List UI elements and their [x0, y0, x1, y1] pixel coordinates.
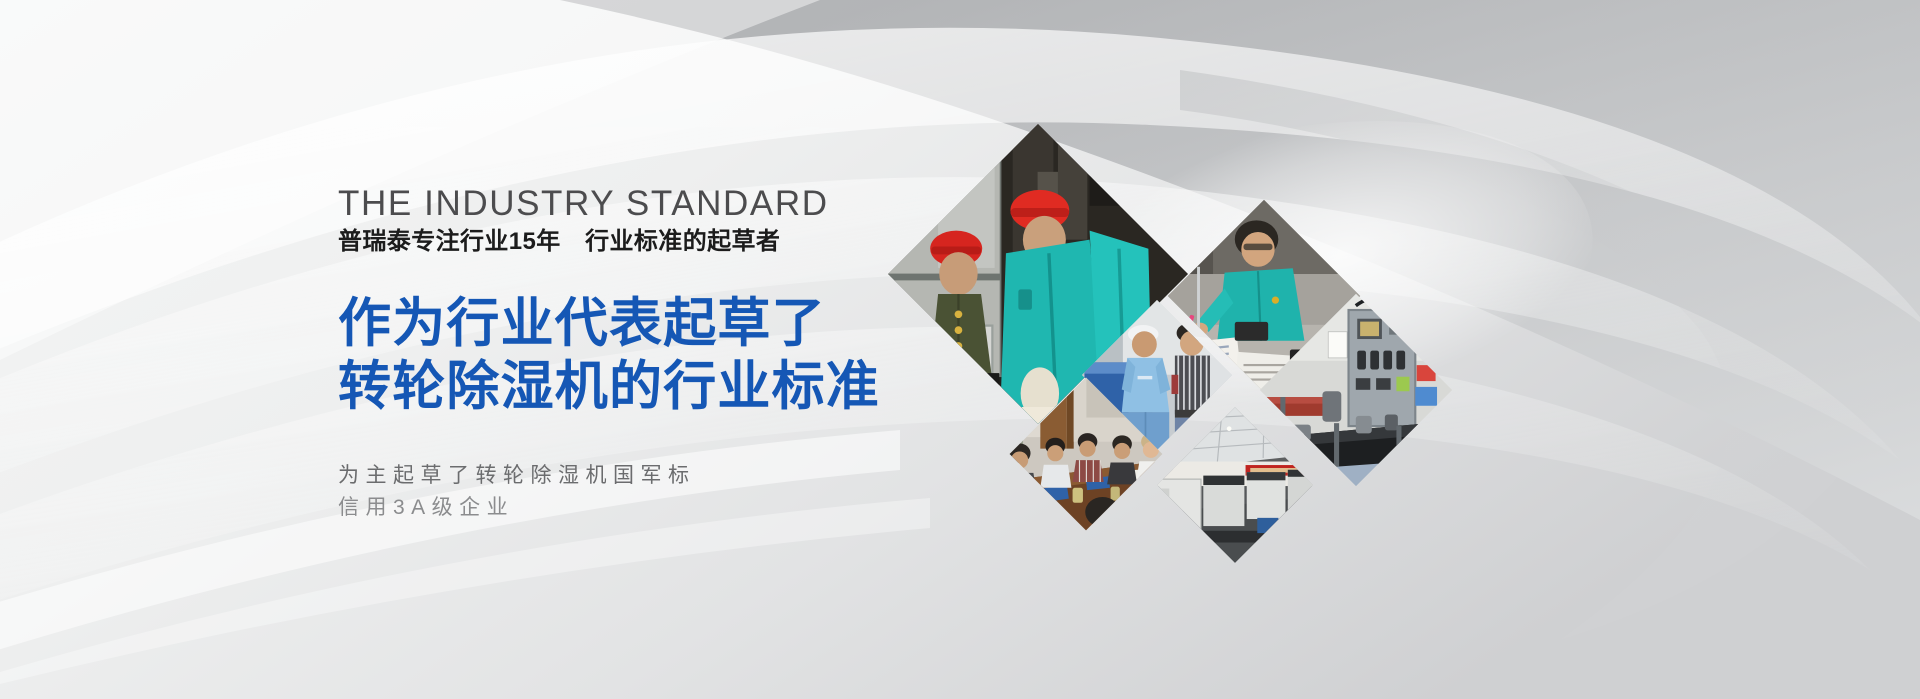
hero-banner: THE INDUSTRY STANDARD 普瑞泰专注行业15年 行业标准的起草…	[0, 0, 1920, 699]
diamond-photo-collage	[880, 100, 1580, 620]
photo-factory-workshop	[1157, 407, 1313, 563]
